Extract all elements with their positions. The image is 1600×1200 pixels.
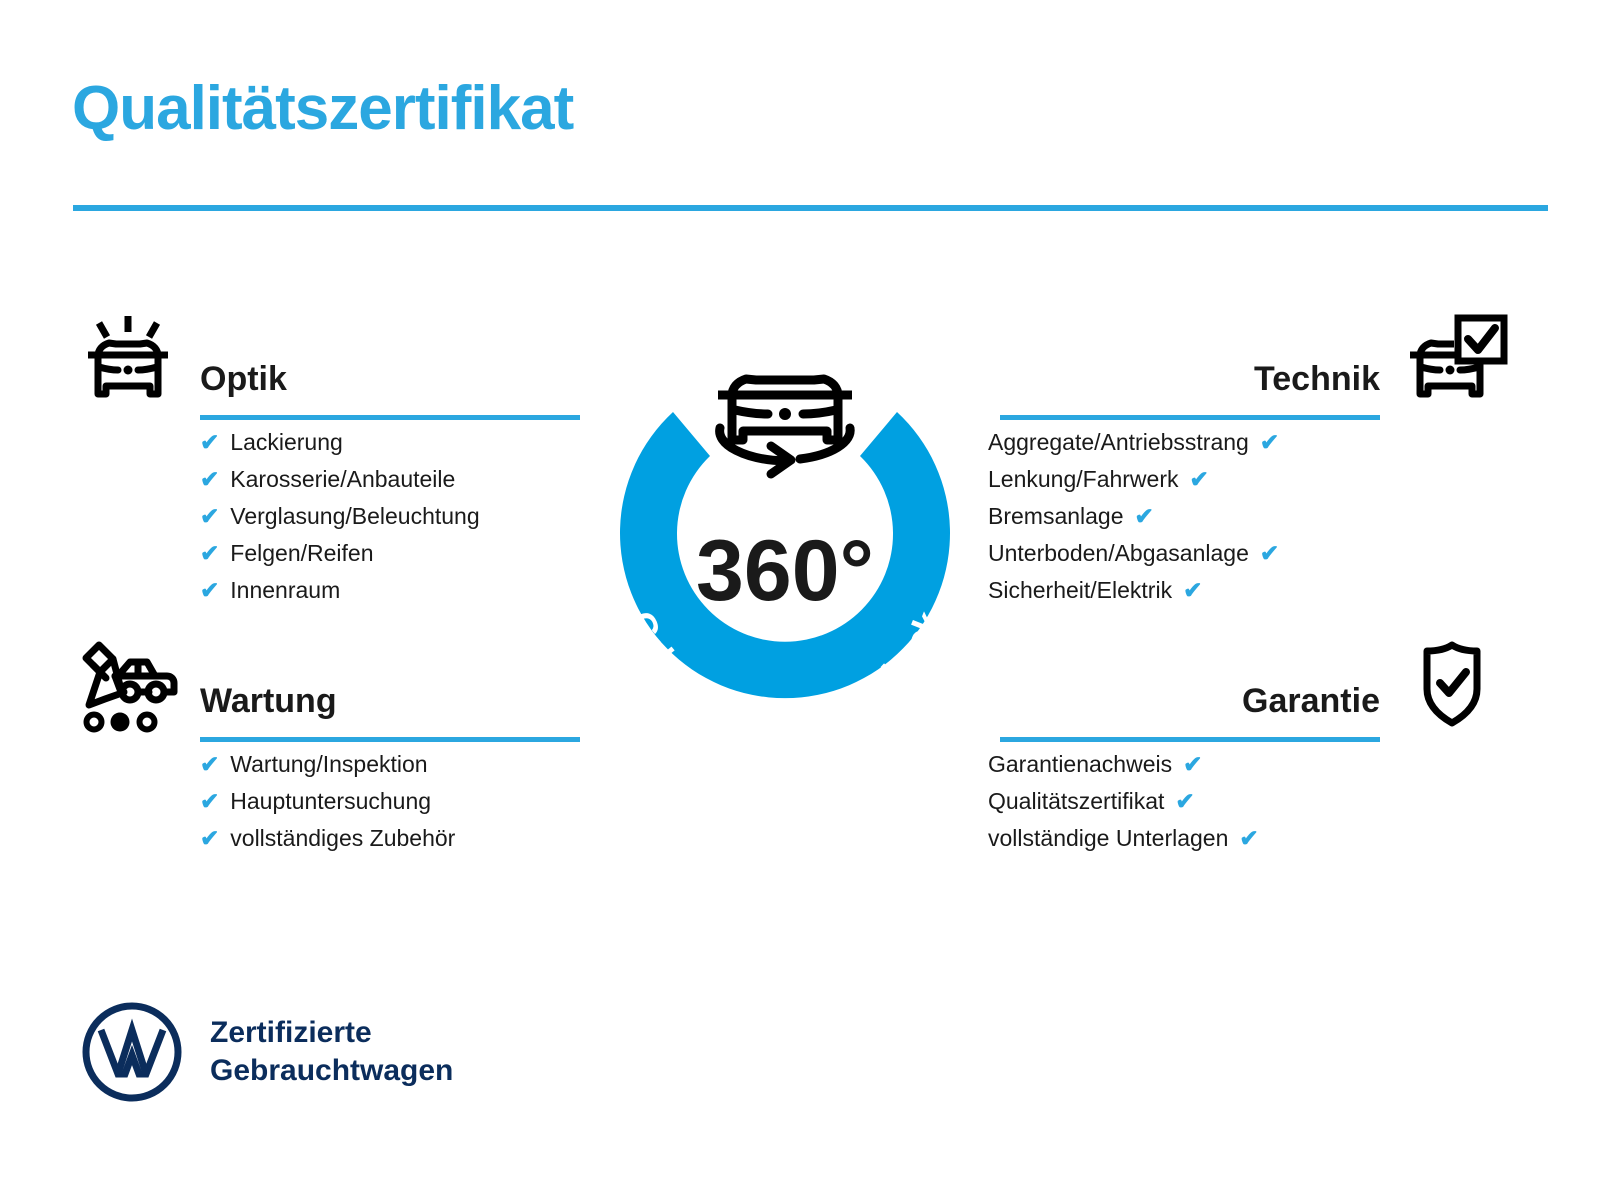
badge-360-gebrauchtwagen-check: Gebrauchtwagen-Check 360° — [560, 300, 1010, 790]
check-icon: ✔ — [200, 572, 219, 609]
list-item-label: Innenraum — [230, 572, 340, 609]
check-icon: ✔ — [1183, 746, 1202, 783]
footer-line-2: Gebrauchtwagen — [210, 1052, 453, 1090]
car-checkbox-icon — [1396, 312, 1508, 412]
section-wartung: Wartung ✔Wartung/Inspektion ✔Hauptunters… — [72, 634, 592, 857]
list-item: Bremsanlage✔ — [988, 498, 1380, 535]
check-icon: ✔ — [200, 498, 219, 535]
check-icon: ✔ — [200, 746, 219, 783]
check-icon: ✔ — [1183, 572, 1202, 609]
pencil-car-icon — [72, 634, 184, 734]
list-item-label: Unterboden/Abgasanlage — [988, 535, 1249, 572]
list-item: Garantienachweis✔ — [988, 746, 1380, 783]
list-item: Qualitätszertifikat✔ — [988, 783, 1380, 820]
section-header: Optik — [72, 312, 592, 424]
check-icon: ✔ — [1260, 535, 1279, 572]
section-header: Technik — [988, 312, 1508, 424]
check-icon: ✔ — [1260, 424, 1279, 461]
volkswagen-logo-icon — [80, 1000, 184, 1104]
car-shine-icon — [72, 312, 184, 412]
badge-center-text: 360° — [696, 523, 874, 619]
checklist-garantie: Garantienachweis✔ Qualitätszertifikat✔ v… — [988, 746, 1380, 857]
list-item-label: vollständige Unterlagen — [988, 820, 1228, 857]
check-icon: ✔ — [200, 783, 219, 820]
list-item: ✔Lackierung — [200, 424, 592, 461]
list-item: Unterboden/Abgasanlage✔ — [988, 535, 1380, 572]
section-header: Garantie — [988, 634, 1508, 746]
list-item: ✔Felgen/Reifen — [200, 535, 592, 572]
section-title: Technik — [1254, 360, 1380, 399]
section-title: Optik — [200, 360, 287, 399]
footer-line-1: Zertifizierte — [210, 1014, 453, 1052]
list-item: ✔Karosserie/Anbauteile — [200, 461, 592, 498]
list-item: Sicherheit/Elektrik✔ — [988, 572, 1380, 609]
check-icon: ✔ — [200, 820, 219, 857]
list-item-label: Felgen/Reifen — [230, 535, 373, 572]
section-underline — [200, 737, 580, 742]
list-item: ✔Innenraum — [200, 572, 592, 609]
list-item-label: Lenkung/Fahrwerk — [988, 461, 1179, 498]
check-icon: ✔ — [1239, 820, 1258, 857]
car-rotation-icon — [718, 379, 852, 474]
list-item: ✔Wartung/Inspektion — [200, 746, 592, 783]
list-item-label: Garantienachweis — [988, 746, 1172, 783]
shield-check-icon — [1396, 634, 1508, 734]
list-item: Aggregate/Antriebsstrang✔ — [988, 424, 1380, 461]
list-item-label: Karosserie/Anbauteile — [230, 461, 455, 498]
checklist-optik: ✔Lackierung ✔Karosserie/Anbauteile ✔Verg… — [200, 424, 592, 609]
check-icon: ✔ — [200, 424, 219, 461]
footer-logo: Zertifizierte Gebrauchtwagen — [80, 1000, 453, 1104]
check-icon: ✔ — [1135, 498, 1154, 535]
section-underline — [1000, 737, 1380, 742]
list-item-label: Qualitätszertifikat — [988, 783, 1164, 820]
check-icon: ✔ — [1175, 783, 1194, 820]
section-optik: Optik ✔Lackierung ✔Karosserie/Anbauteile… — [72, 312, 592, 609]
list-item-label: Aggregate/Antriebsstrang — [988, 424, 1249, 461]
check-icon: ✔ — [1190, 461, 1209, 498]
footer-logo-text: Zertifizierte Gebrauchtwagen — [210, 1014, 453, 1090]
list-item-label: Lackierung — [230, 424, 343, 461]
page-title: Qualitätszertifikat — [72, 78, 573, 140]
section-title: Wartung — [200, 682, 337, 721]
checklist-wartung: ✔Wartung/Inspektion ✔Hauptuntersuchung ✔… — [200, 746, 592, 857]
list-item: ✔Hauptuntersuchung — [200, 783, 592, 820]
list-item-label: Hauptuntersuchung — [230, 783, 431, 820]
section-title: Garantie — [1242, 682, 1380, 721]
section-garantie: Garantie Garantienachweis✔ Qualitätszert… — [988, 634, 1508, 857]
list-item-label: Sicherheit/Elektrik — [988, 572, 1172, 609]
check-icon: ✔ — [200, 461, 219, 498]
check-icon: ✔ — [200, 535, 219, 572]
section-technik: Technik Aggregate/Antriebsstrang✔ Lenkun… — [988, 312, 1508, 609]
list-item: Lenkung/Fahrwerk✔ — [988, 461, 1380, 498]
section-underline — [200, 415, 580, 420]
checklist-technik: Aggregate/Antriebsstrang✔ Lenkung/Fahrwe… — [988, 424, 1380, 609]
list-item-label: Verglasung/Beleuchtung — [230, 498, 479, 535]
list-item: ✔Verglasung/Beleuchtung — [200, 498, 592, 535]
list-item-label: Wartung/Inspektion — [230, 746, 427, 783]
list-item-label: vollständiges Zubehör — [230, 820, 455, 857]
section-header: Wartung — [72, 634, 592, 746]
list-item: ✔vollständiges Zubehör — [200, 820, 592, 857]
header-divider — [73, 205, 1548, 211]
list-item: vollständige Unterlagen✔ — [988, 820, 1380, 857]
section-underline — [1000, 415, 1380, 420]
